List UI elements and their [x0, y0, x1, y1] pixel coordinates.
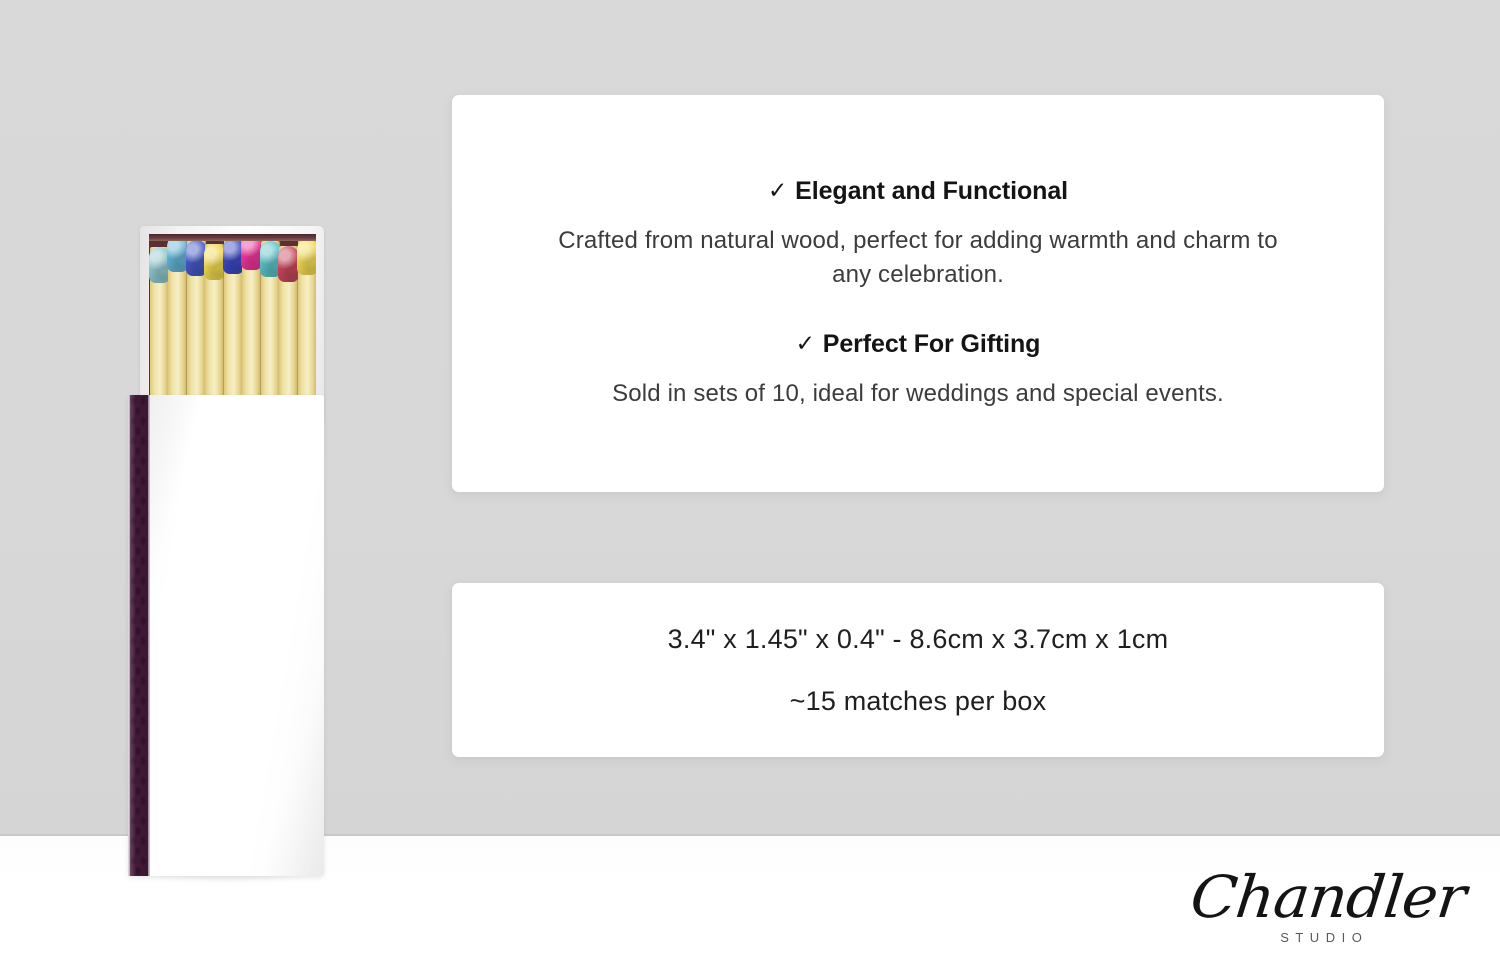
- matchbox-sleeve-highlight: [148, 395, 324, 876]
- brand-logo: Chandler STUDIO: [1196, 868, 1446, 950]
- spec-match-count: ~15 matches per box: [790, 683, 1047, 719]
- check-icon: ✓: [796, 330, 815, 358]
- check-icon: ✓: [768, 177, 787, 205]
- infographic-canvas: ✓Elegant and Functional Crafted from nat…: [0, 0, 1500, 955]
- feature-item-1: ✓Elegant and Functional Crafted from nat…: [452, 176, 1384, 292]
- tray-lip: [149, 234, 316, 241]
- brand-name: Chandler: [1188, 868, 1454, 926]
- match-stick: [242, 234, 261, 422]
- matchbox-striker-strip: [128, 395, 150, 876]
- match-head-red: [278, 246, 299, 282]
- match-head-yellow: [297, 239, 316, 275]
- match-stack: [149, 234, 316, 422]
- spec-dimensions: 3.4" x 1.45" x 0.4" - 8.6cm x 3.7cm x 1c…: [668, 621, 1169, 657]
- feature-title-1-text: Elegant and Functional: [795, 177, 1068, 205]
- features-card: ✓Elegant and Functional Crafted from nat…: [452, 95, 1384, 492]
- specifications-card: 3.4" x 1.45" x 0.4" - 8.6cm x 3.7cm x 1c…: [452, 583, 1384, 757]
- feature-body-2: Sold in sets of 10, ideal for weddings a…: [538, 377, 1298, 411]
- feature-body-1: Crafted from natural wood, perfect for a…: [538, 224, 1298, 292]
- product-matchbox-image: [112, 212, 327, 876]
- feature-title-2: ✓Perfect For Gifting: [452, 329, 1384, 359]
- feature-title-2-text: Perfect For Gifting: [823, 330, 1041, 358]
- feature-title-1: ✓Elegant and Functional: [452, 176, 1384, 206]
- feature-item-2: ✓Perfect For Gifting Sold in sets of 10,…: [452, 329, 1384, 411]
- brand-tagline: STUDIO: [1196, 930, 1446, 945]
- matchbox-inner-tray: [140, 226, 324, 422]
